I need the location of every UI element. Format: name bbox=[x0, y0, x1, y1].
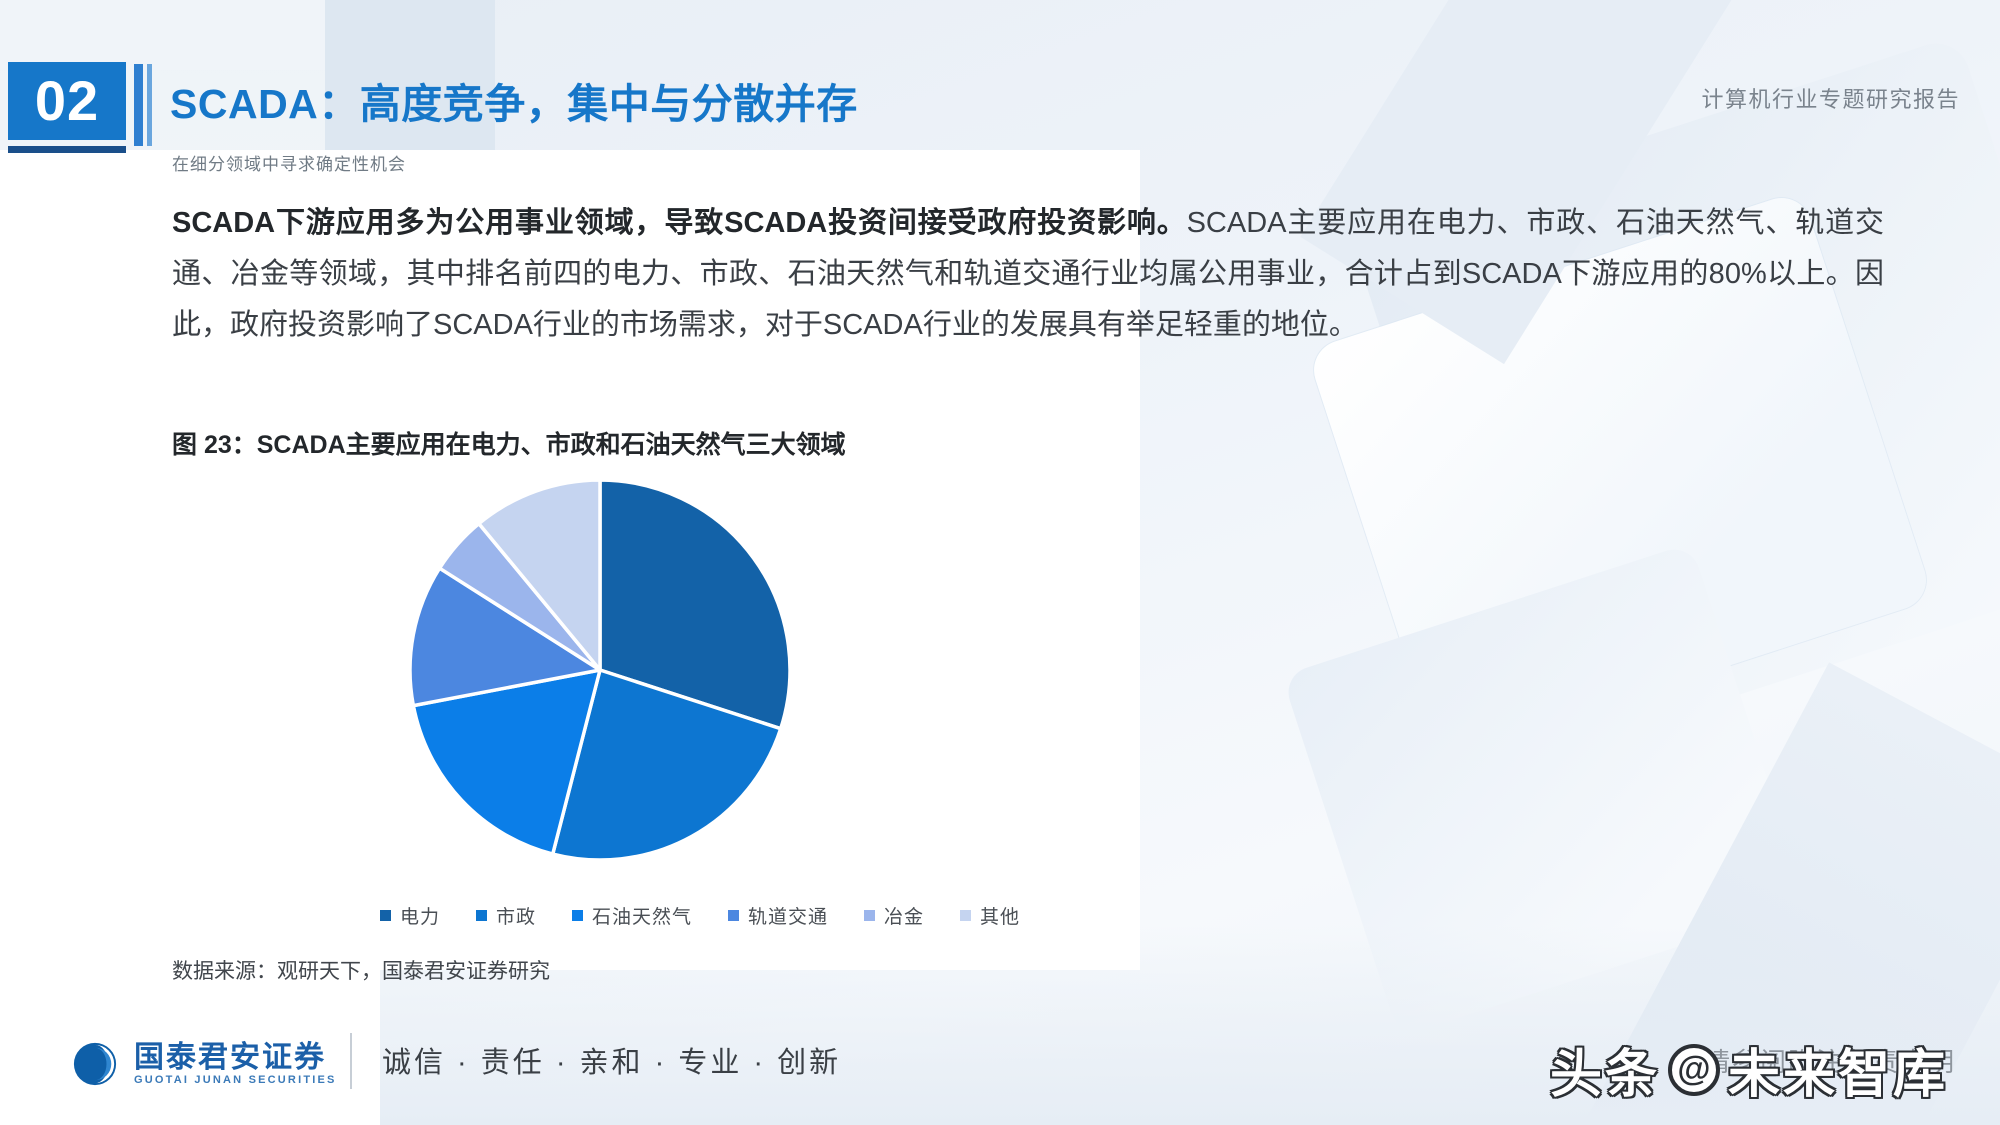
company-logo: 国泰君安证券 GUOTAI JUNAN SECURITIES bbox=[72, 1041, 337, 1087]
legend-item: 轨道交通 bbox=[728, 902, 828, 929]
logo-text-block: 国泰君安证券 GUOTAI JUNAN SECURITIES bbox=[134, 1043, 337, 1086]
legend-item: 石油天然气 bbox=[572, 902, 692, 929]
watermark-at-icon: @ bbox=[1668, 1044, 1720, 1096]
page-subtitle: 在细分领域中寻求确定性机会 bbox=[172, 150, 406, 175]
watermark-right-text: 未来智库 bbox=[1728, 1032, 1948, 1107]
legend-swatch-icon bbox=[960, 910, 971, 921]
legend-label: 轨道交通 bbox=[748, 902, 828, 929]
pie-chart-figure: 电力市政石油天然气轨道交通冶金其他 bbox=[150, 470, 1270, 940]
footer-divider bbox=[350, 1033, 352, 1089]
bg-envelope-shape-1 bbox=[1349, 35, 2000, 765]
legend-swatch-icon bbox=[728, 910, 739, 921]
pie-chart-svg bbox=[400, 470, 800, 870]
legend-item: 市政 bbox=[476, 902, 536, 929]
logo-english-name: GUOTAI JUNAN SECURITIES bbox=[134, 1075, 337, 1086]
footer-slogan: 诚信 · 责任 · 亲和 · 专业 · 创新 bbox=[382, 1039, 841, 1081]
legend-item: 冶金 bbox=[864, 902, 924, 929]
watermark-left-text: 头条 bbox=[1550, 1032, 1660, 1107]
legend-swatch-icon bbox=[380, 910, 391, 921]
bg-rect-top-left bbox=[0, 0, 330, 70]
pie-chart-canvas bbox=[400, 470, 800, 870]
pie-slice-group bbox=[410, 480, 790, 860]
section-badge-underline bbox=[8, 146, 126, 153]
body-lead-sentence: SCADA下游应用多为公用事业领域，导致SCADA投资间接受政府投资影响。 bbox=[172, 207, 1187, 239]
report-label: 计算机行业专题研究报告 bbox=[1701, 82, 1960, 114]
guotai-junan-logo-icon bbox=[72, 1041, 118, 1087]
watermark: 头条 @ 未来智库 bbox=[1550, 1032, 1948, 1107]
figure-title: 图 23：SCADA主要应用在电力、市政和石油天然气三大领域 bbox=[172, 425, 846, 461]
logo-chinese-name: 国泰君安证券 bbox=[134, 1043, 337, 1073]
legend-label: 石油天然气 bbox=[592, 902, 692, 929]
legend-label: 电力 bbox=[400, 902, 440, 929]
legend-item: 电力 bbox=[380, 902, 440, 929]
legend-swatch-icon bbox=[864, 910, 875, 921]
legend-swatch-icon bbox=[572, 910, 583, 921]
figure-source-note: 数据来源：观研天下，国泰君安证券研究 bbox=[172, 955, 550, 985]
body-paragraph: SCADA下游应用多为公用事业领域，导致SCADA投资间接受政府投资影响。SCA… bbox=[172, 198, 1884, 351]
page-title: SCADA：高度竞争，集中与分散并存 bbox=[170, 70, 858, 130]
bg-envelope-shape-3 bbox=[1282, 543, 1808, 1037]
title-accent-bar bbox=[134, 64, 143, 146]
slide-root: 02 SCADA：高度竞争，集中与分散并存 在细分领域中寻求确定性机会 计算机行… bbox=[0, 0, 2000, 1125]
chart-legend: 电力市政石油天然气轨道交通冶金其他 bbox=[250, 902, 1150, 929]
legend-swatch-icon bbox=[476, 910, 487, 921]
legend-label: 冶金 bbox=[884, 902, 924, 929]
section-number-badge: 02 bbox=[8, 62, 126, 140]
section-number-text: 02 bbox=[35, 73, 99, 129]
legend-item: 其他 bbox=[960, 902, 1020, 929]
title-accent-bar-secondary bbox=[147, 64, 152, 146]
legend-label: 市政 bbox=[496, 902, 536, 929]
legend-label: 其他 bbox=[980, 902, 1020, 929]
